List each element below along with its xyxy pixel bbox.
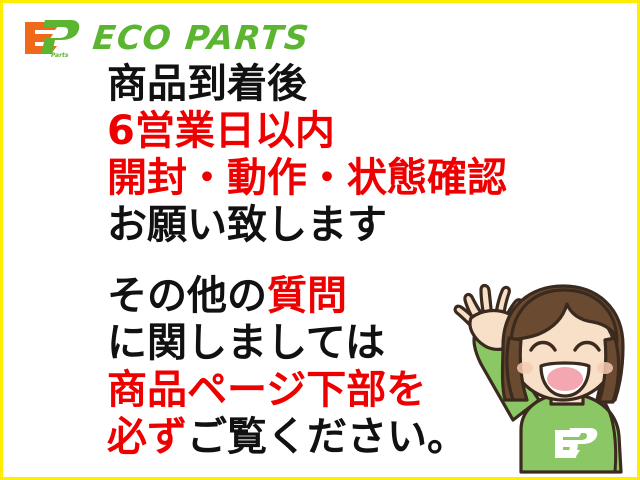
svg-text:Eco: Eco: [29, 47, 41, 54]
notice-line-2: 6営業日以内: [107, 108, 537, 155]
notice-message-block-primary: 商品到着後 6営業日以内 開封・動作・状態確認 お願い致します: [107, 61, 537, 249]
eco-parts-notice-banner: Eco Parts ECO PARTS 商品到着後 6営業日以内 開封・動作・状…: [0, 0, 640, 480]
brand-header: Eco Parts ECO PARTS: [21, 15, 310, 59]
svg-text:Parts: Parts: [51, 52, 69, 58]
notice-line-4: お願い致します: [107, 202, 537, 249]
notice-line-8-suffix: ご覧ください。: [187, 414, 467, 460]
eco-parts-logo-icon: Eco Parts: [21, 16, 83, 58]
notice-line-3: 開封・動作・状態確認: [107, 155, 537, 202]
notice-line-8-highlight: 必ず: [107, 414, 187, 460]
notice-line-5-highlight: 質問: [267, 273, 347, 319]
notice-line-1: 商品到着後: [107, 61, 537, 108]
mascot-character-illustration: [443, 280, 633, 475]
brand-name: ECO PARTS: [91, 21, 311, 54]
notice-line-5-prefix: その他の: [107, 273, 267, 319]
